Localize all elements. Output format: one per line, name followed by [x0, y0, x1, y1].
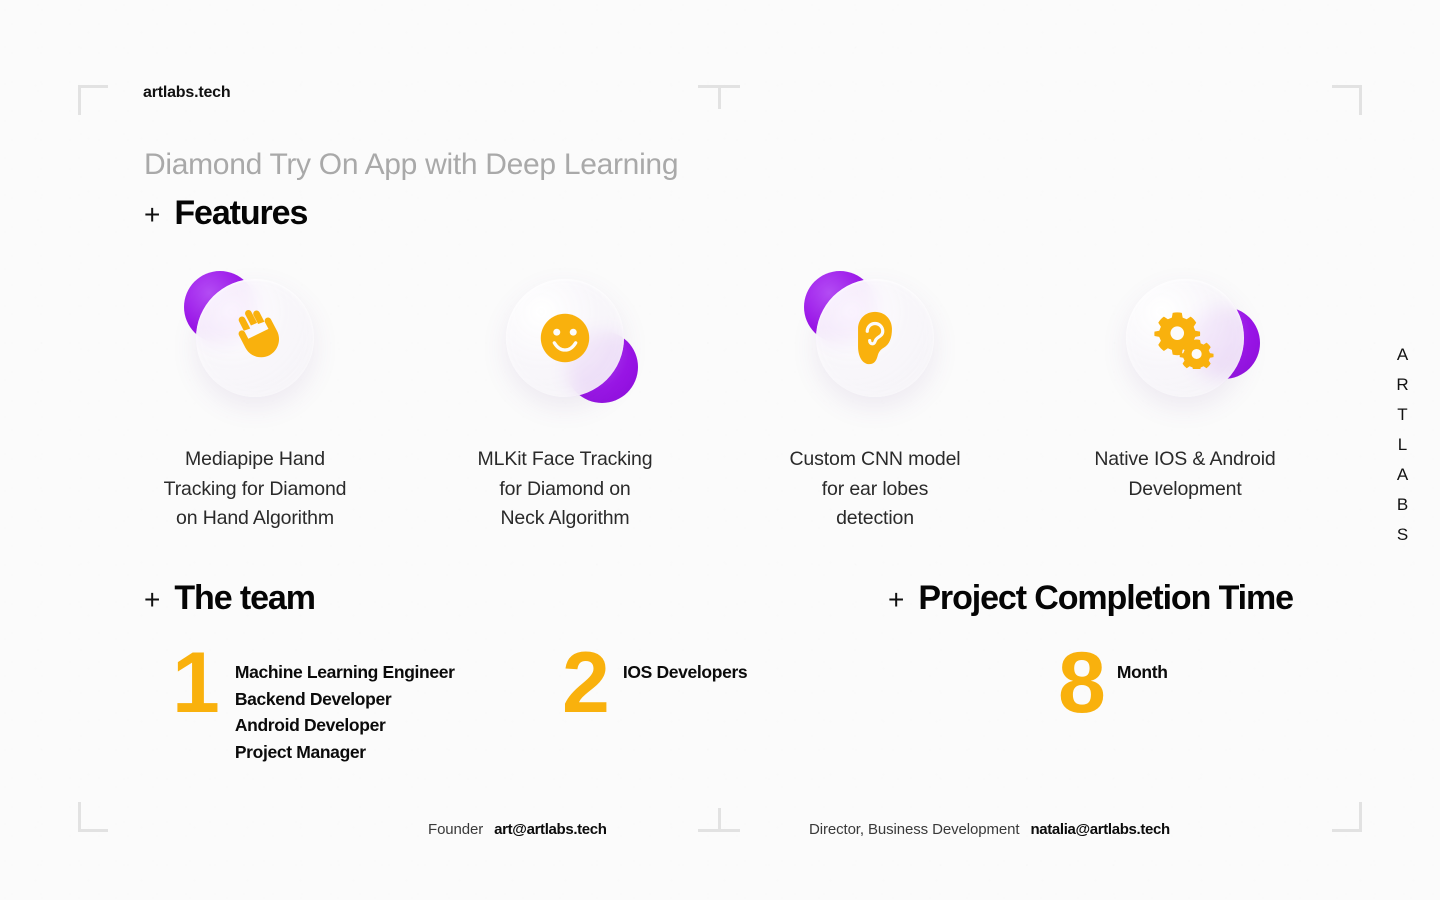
section-heading-team: + The team	[144, 576, 315, 621]
section-title-features: Features	[174, 191, 307, 236]
team-stat-roles: IOS Developers	[623, 648, 747, 686]
feature-badge	[490, 265, 640, 411]
ear-icon	[844, 307, 906, 369]
feature-caption: MLKit Face Tracking for Diamond on Neck …	[435, 445, 695, 534]
contact-email[interactable]: art@artlabs.tech	[494, 821, 606, 838]
plus-icon: +	[888, 586, 904, 614]
contact-role: Director, Business Development	[809, 821, 1019, 838]
slide-canvas: artlabs.tech Diamond Try On App with Dee…	[0, 0, 1440, 900]
smiley-face-icon	[534, 307, 596, 369]
feature-badge	[180, 265, 330, 411]
crop-mark-top-left-icon	[78, 85, 108, 115]
frosted-disc	[196, 279, 314, 397]
plus-icon: +	[144, 201, 160, 229]
features-row: Mediapipe Hand Tracking for Diamond on H…	[100, 265, 1340, 534]
side-wordmark-text: ARTLABS	[1392, 345, 1412, 555]
feature-item: Mediapipe Hand Tracking for Diamond on H…	[100, 265, 410, 534]
feature-item: Native IOS & Android Development	[1030, 265, 1340, 534]
feature-badge	[1110, 265, 1260, 411]
team-stat-row: 1 Machine Learning Engineer Backend Deve…	[172, 648, 455, 765]
feature-item: Custom CNN model for ear lobes detection	[720, 265, 1030, 534]
waving-hand-icon	[224, 307, 286, 369]
completion-time-count: 8	[1058, 648, 1103, 719]
team-stat-roles: Machine Learning Engineer Backend Develo…	[235, 648, 455, 765]
section-title-completion-time: Project Completion Time	[918, 576, 1293, 621]
feature-caption: Mediapipe Hand Tracking for Diamond on H…	[125, 445, 385, 534]
brand-logo: artlabs.tech	[143, 84, 230, 102]
completion-time-unit: Month	[1117, 648, 1168, 686]
deck-title: Diamond Try On App with Deep Learning	[144, 148, 678, 182]
section-heading-features: + Features	[144, 191, 307, 236]
crop-mark-bottom-left-icon	[78, 802, 108, 832]
crop-mark-top-right-icon	[1332, 85, 1362, 115]
footer-contact-founder: Founder art@artlabs.tech	[428, 821, 607, 838]
footer-contact-director: Director, Business Development natalia@a…	[809, 821, 1170, 838]
feature-caption: Native IOS & Android Development	[1055, 445, 1315, 504]
registration-mark-top-icon	[698, 85, 740, 109]
team-stat-row: 2 IOS Developers	[562, 648, 747, 719]
frosted-disc	[506, 279, 624, 397]
completion-time-row: 8 Month	[1058, 648, 1168, 719]
team-stat-count: 1	[172, 648, 217, 719]
feature-caption: Custom CNN model for ear lobes detection	[745, 445, 1005, 534]
section-title-team: The team	[174, 576, 314, 621]
team-stat-count: 2	[562, 648, 607, 719]
side-wordmark: ARTLABS	[1382, 340, 1422, 560]
gears-icon	[1154, 307, 1216, 369]
contact-email[interactable]: natalia@artlabs.tech	[1030, 821, 1169, 838]
feature-badge	[800, 265, 950, 411]
section-heading-completion-time: + Project Completion Time	[888, 576, 1318, 621]
frosted-disc	[1126, 279, 1244, 397]
frosted-disc	[816, 279, 934, 397]
feature-item: MLKit Face Tracking for Diamond on Neck …	[410, 265, 720, 534]
crop-mark-bottom-right-icon	[1332, 802, 1362, 832]
registration-mark-bottom-icon	[698, 808, 740, 832]
plus-icon: +	[144, 586, 160, 614]
contact-role: Founder	[428, 821, 483, 838]
